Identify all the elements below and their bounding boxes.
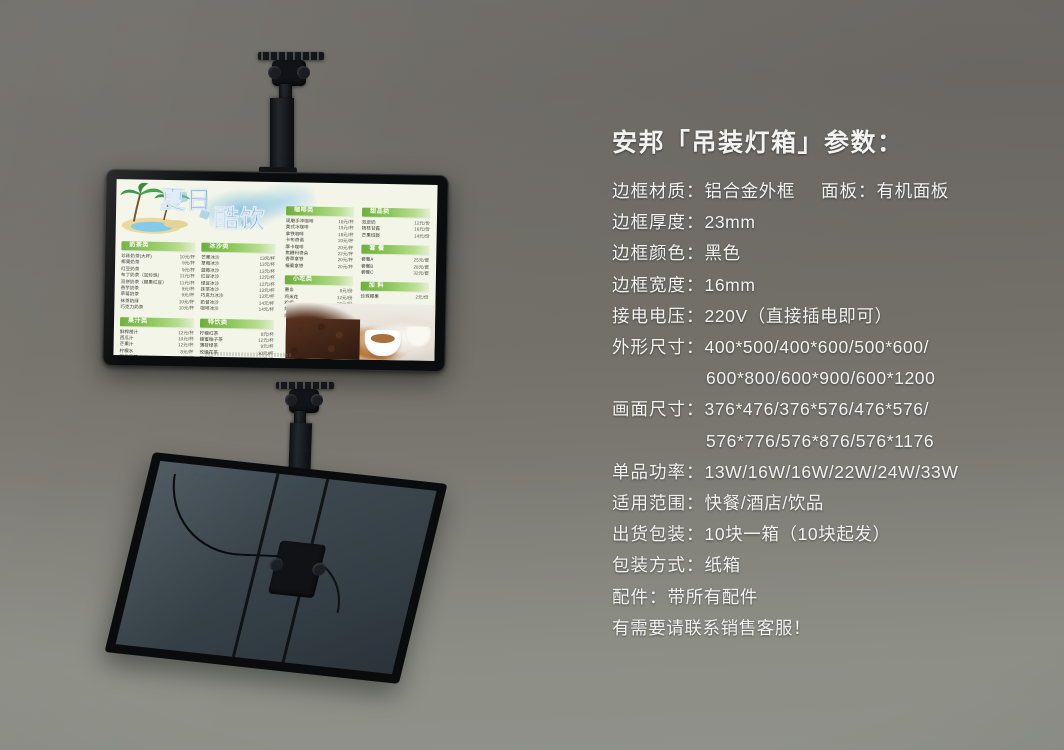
background-vignette — [0, 0, 1064, 750]
product-photo-canvas: 夏日 酷饮 奶茶类珍珠奶茶(大杯)10元/杯椰果奶茶9元/杯红豆奶茶9元/杯布丁… — [0, 0, 1064, 750]
